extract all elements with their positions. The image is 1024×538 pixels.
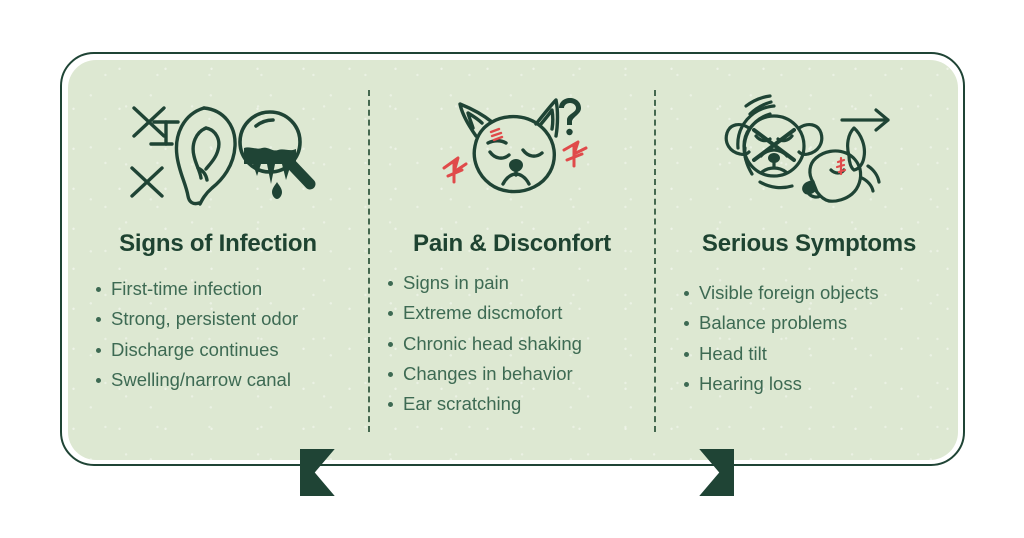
list-item: First-time infection [94,276,368,302]
list-item: Signs in pain [386,270,654,296]
column-title: Signs of Infection [68,230,368,258]
sad-cat-face-pain-icon [368,88,654,216]
list-item: Changes in behavior [386,361,654,387]
list-item: Visible foreign objects [682,280,958,306]
dizzy-dog-head-tilt-icon [654,88,958,216]
column-title: Serious Symptoms [660,230,958,258]
columns-container: Signs of Infection First-time infection … [68,60,958,460]
bullet-list: Signs in pain Extreme discmofort Chronic… [386,270,654,417]
column-title: Pain & Disconfort [370,230,654,258]
list-item: Extreme discmofort [386,300,654,326]
ear-with-magnifier-discharge-icon [68,88,368,216]
infographic-canvas: Signs of Infection First-time infection … [0,0,1024,538]
column-signs-of-infection: Signs of Infection First-time infection … [68,60,368,460]
bullet-list: First-time infection Strong, persistent … [94,276,368,393]
list-item: Ear scratching [386,391,654,417]
column-serious-symptoms: Serious Symptoms Visible foreign objects… [654,60,958,460]
discharge-drop [272,182,282,199]
list-item: Strong, persistent odor [94,306,368,332]
bullet-list: Visible foreign objects Balance problems… [682,280,958,397]
column-pain-and-discomfort: Pain & Disconfort Signs in pain Extreme … [368,60,654,460]
list-item: Head tilt [682,341,958,367]
list-item: Chronic head shaking [386,331,654,357]
list-item: Discharge continues [94,337,368,363]
list-item: Hearing loss [682,371,958,397]
list-item: Balance problems [682,310,958,336]
content-panel: Signs of Infection First-time infection … [68,60,958,460]
list-item: Swelling/narrow canal [94,367,368,393]
